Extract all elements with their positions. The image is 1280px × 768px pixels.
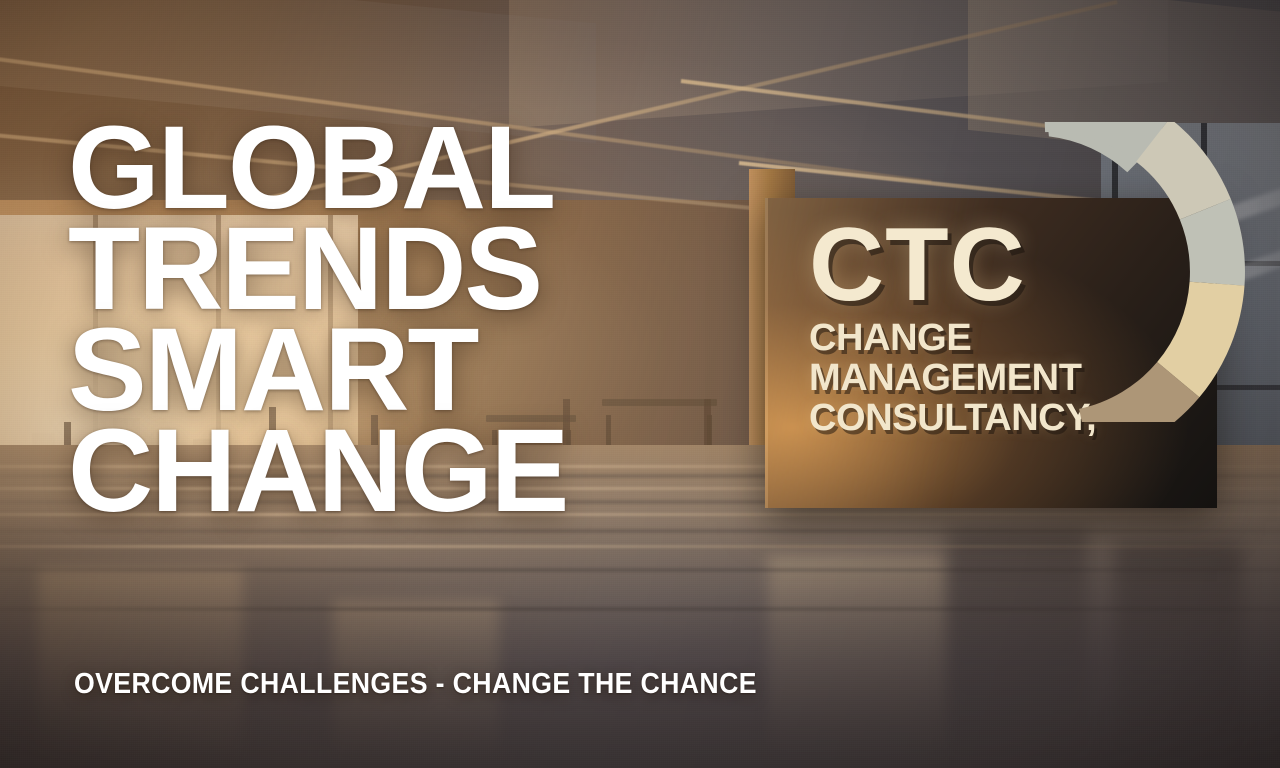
poster-tagline: OVERCOME CHALLENGES - CHANGE THE CHANCE [74,668,757,701]
poster-headline: GLOBAL TRENDS SMART CHANGE [68,118,828,522]
ctc-arc-logo [1040,122,1245,422]
poster-canvas: CTC CHANGE MANAGEMENT CONSULTANCY, [0,0,1280,768]
headline-line-4: CHANGE [68,421,828,522]
arc-logo-svg [1040,122,1245,422]
arc-wedge-group [1043,122,1245,422]
